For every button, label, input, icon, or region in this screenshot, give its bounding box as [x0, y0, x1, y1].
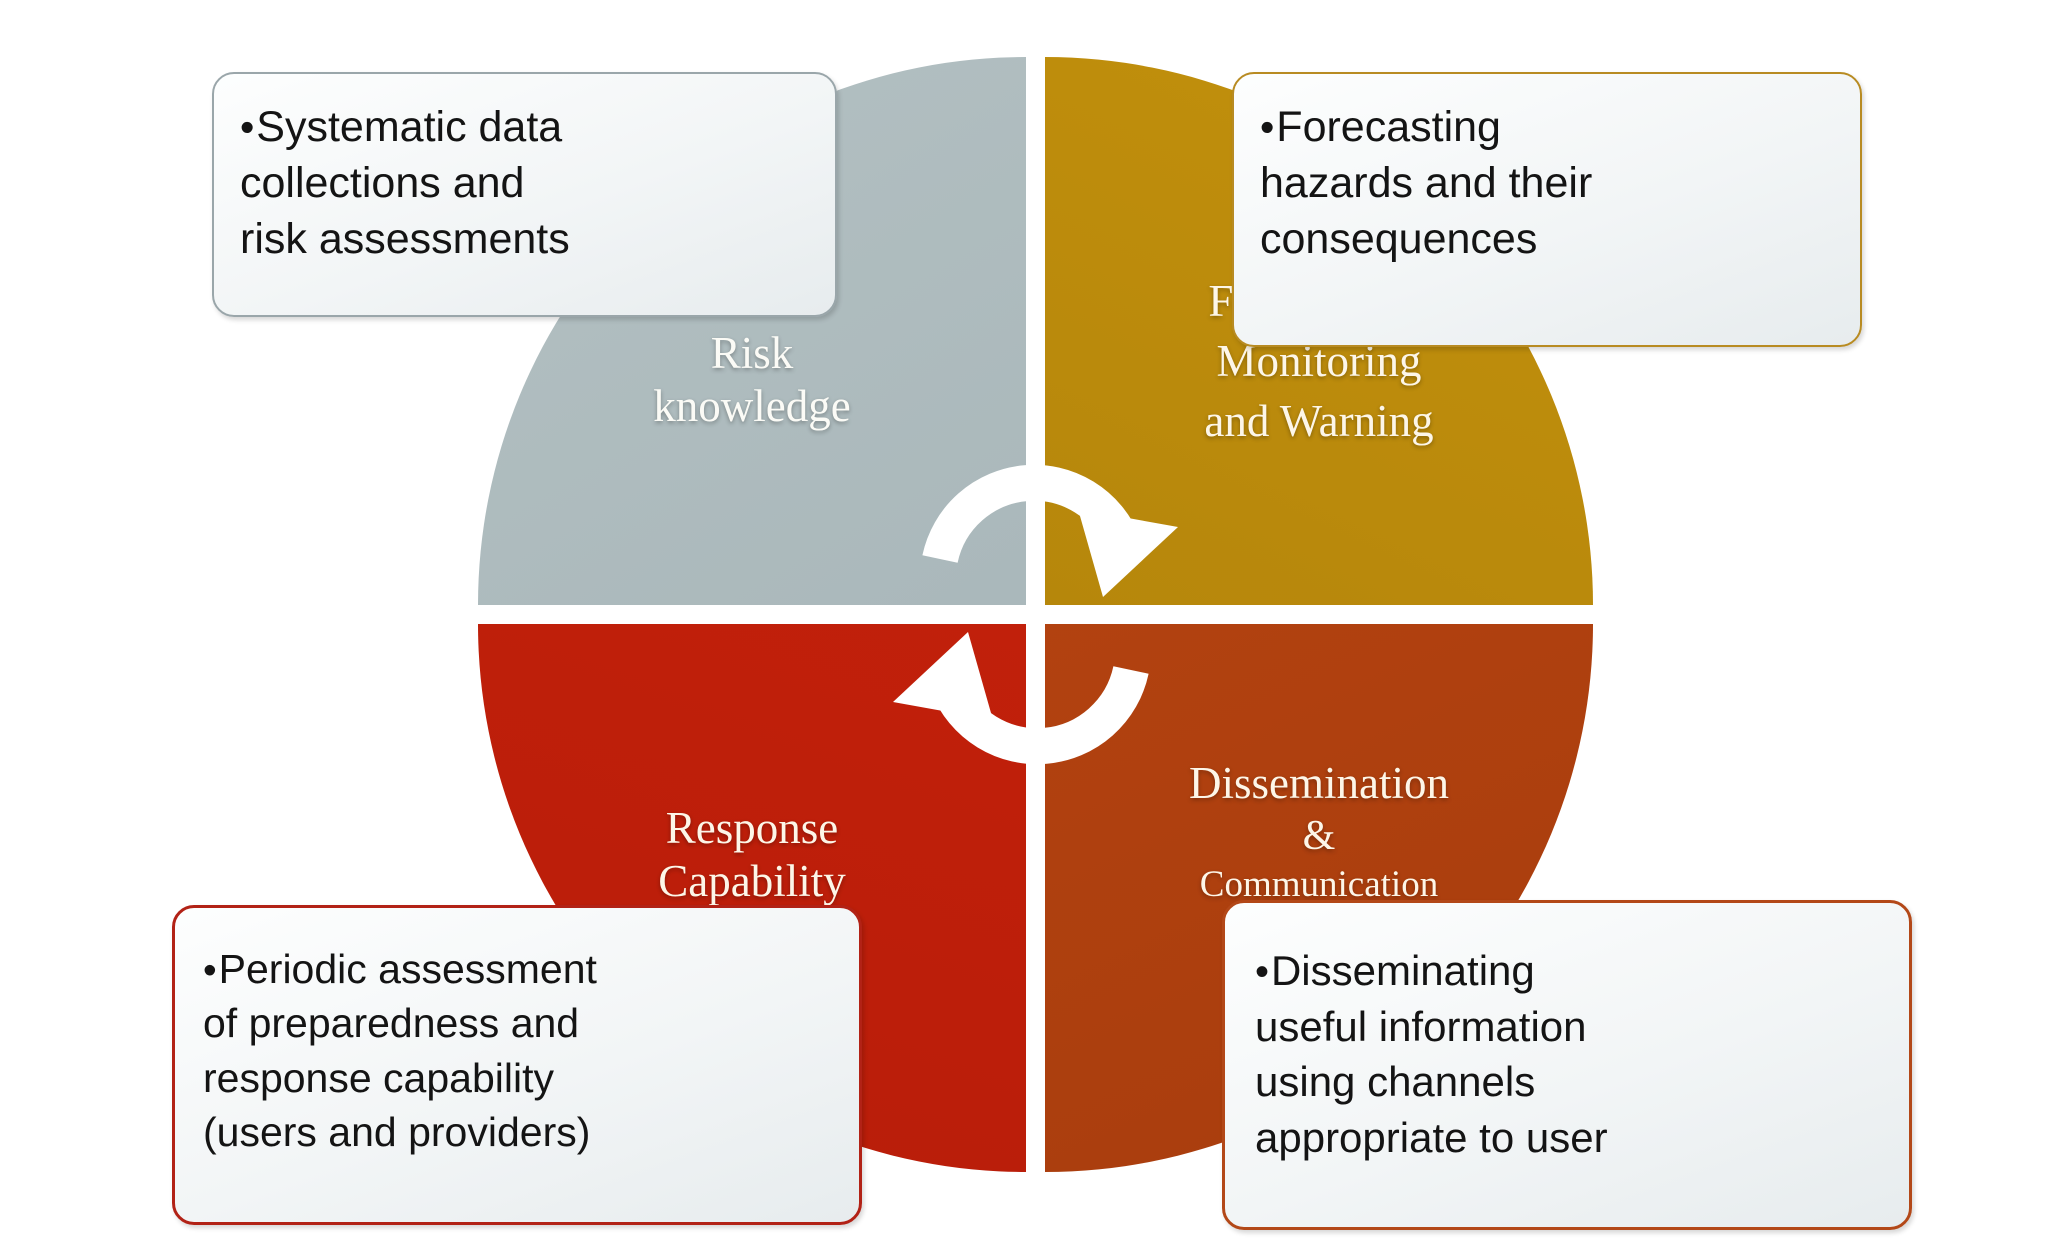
callout-dissemination-bullet: Disseminating useful information using c… — [1255, 943, 1883, 1165]
callout-risk-list: Systematic data collections and risk ass… — [240, 100, 805, 268]
callout-response-line3: response capability — [203, 1051, 833, 1105]
callout-response-line4: (users and providers) — [203, 1105, 833, 1159]
callout-response-line2: of preparedness and — [203, 996, 833, 1050]
callout-dissemination[interactable]: Disseminating useful information using c… — [1222, 900, 1912, 1230]
callout-forecasting-line2: hazards and their — [1260, 156, 1830, 212]
callout-dissemination-line1: Disseminating — [1271, 947, 1535, 994]
callout-risk-knowledge[interactable]: Systematic data collections and risk ass… — [212, 72, 837, 317]
callout-forecasting-line3: consequences — [1260, 212, 1830, 268]
callout-risk-line3: risk assessments — [240, 212, 805, 268]
callout-risk-line1: Systematic data — [256, 103, 562, 151]
callout-response-line1: Periodic assessment — [219, 946, 597, 992]
callout-forecasting-bullet: Forecasting hazards and their consequenc… — [1260, 100, 1830, 268]
callout-response-capability[interactable]: Periodic assessment of preparedness and … — [172, 905, 862, 1225]
callout-response-bullet: Periodic assessment of preparedness and … — [203, 942, 833, 1159]
callout-dissemination-line2: useful information — [1255, 999, 1883, 1054]
callout-dissemination-line3: using channels — [1255, 1054, 1883, 1109]
callout-forecasting-list: Forecasting hazards and their consequenc… — [1260, 100, 1830, 268]
callout-risk-bullet: Systematic data collections and risk ass… — [240, 100, 805, 268]
callout-forecasting-line1: Forecasting — [1276, 103, 1501, 151]
callout-dissemination-line4: appropriate to user — [1255, 1110, 1883, 1165]
callout-risk-line2: collections and — [240, 156, 805, 212]
callout-response-list: Periodic assessment of preparedness and … — [203, 942, 833, 1159]
callout-dissemination-list: Disseminating useful information using c… — [1255, 943, 1883, 1165]
callout-forecasting[interactable]: Forecasting hazards and their consequenc… — [1232, 72, 1862, 347]
